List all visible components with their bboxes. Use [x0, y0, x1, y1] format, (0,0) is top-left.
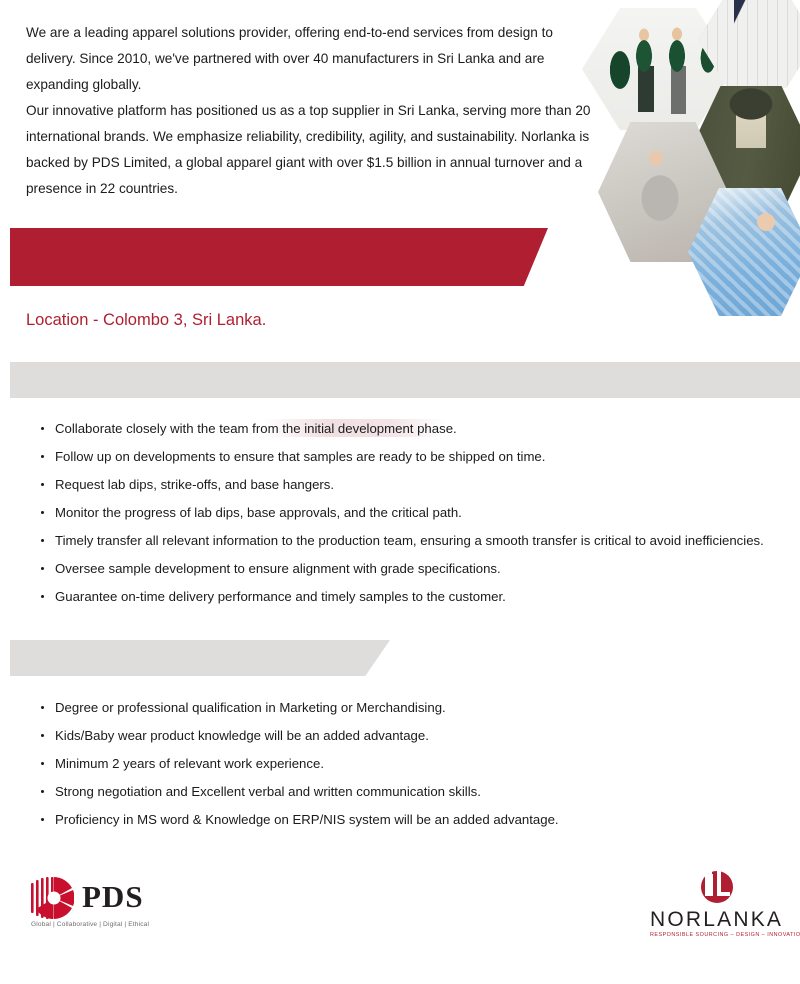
intro-paragraph-1: We are a leading apparel solutions provi… — [26, 20, 604, 98]
list-item: Guarantee on-time delivery performance a… — [38, 589, 788, 605]
pds-sunburst-icon — [30, 876, 74, 920]
list-item: Timely transfer all relevant information… — [38, 533, 788, 549]
list-item: Monitor the progress of lab dips, base a… — [38, 505, 788, 521]
intro-paragraph-2: Our innovative platform has positioned u… — [26, 98, 604, 202]
job-role-section-header — [10, 362, 800, 398]
qualifications-items: Degree or professional qualification in … — [38, 700, 788, 828]
list-item: Kids/Baby wear product knowledge will be… — [38, 728, 788, 744]
job-title-banner — [10, 228, 548, 286]
job-location: Location - Colombo 3, Sri Lanka. — [26, 311, 266, 330]
norlanka-wordmark: NORLANKA — [650, 908, 782, 932]
job-role-items: Collaborate closely with the team from t… — [38, 421, 788, 605]
pds-tagline: Global | Collaborative | Digital | Ethic… — [31, 921, 149, 928]
norlanka-tagline: RESPONSIBLE SOURCING – DESIGN – INNOVATI… — [650, 932, 782, 938]
list-item: Minimum 2 years of relevant work experie… — [38, 756, 788, 772]
pds-logo: PDS Global | Collaborative | Digital | E… — [30, 876, 190, 938]
list-item: Degree or professional qualification in … — [38, 700, 788, 716]
list-item: Collaborate closely with the team from t… — [38, 421, 788, 437]
list-item: Strong negotiation and Excellent verbal … — [38, 784, 788, 800]
photo-collage — [580, 0, 800, 300]
intro-copy: We are a leading apparel solutions provi… — [26, 20, 604, 202]
list-item: Follow up on developments to ensure that… — [38, 449, 788, 465]
list-item: Oversee sample development to ensure ali… — [38, 561, 788, 577]
qualifications-section-header — [10, 640, 390, 676]
list-item: Request lab dips, strike-offs, and base … — [38, 477, 788, 493]
norlanka-logo: NORLANKA RESPONSIBLE SOURCING – DESIGN –… — [650, 866, 782, 940]
job-role-list: Collaborate closely with the team from t… — [38, 421, 788, 617]
norlanka-nl-monogram-icon — [696, 866, 738, 908]
list-item: Proficiency in MS word & Knowledge on ER… — [38, 812, 788, 828]
qualifications-list: Degree or professional qualification in … — [38, 700, 788, 840]
pds-wordmark: PDS — [82, 879, 144, 915]
